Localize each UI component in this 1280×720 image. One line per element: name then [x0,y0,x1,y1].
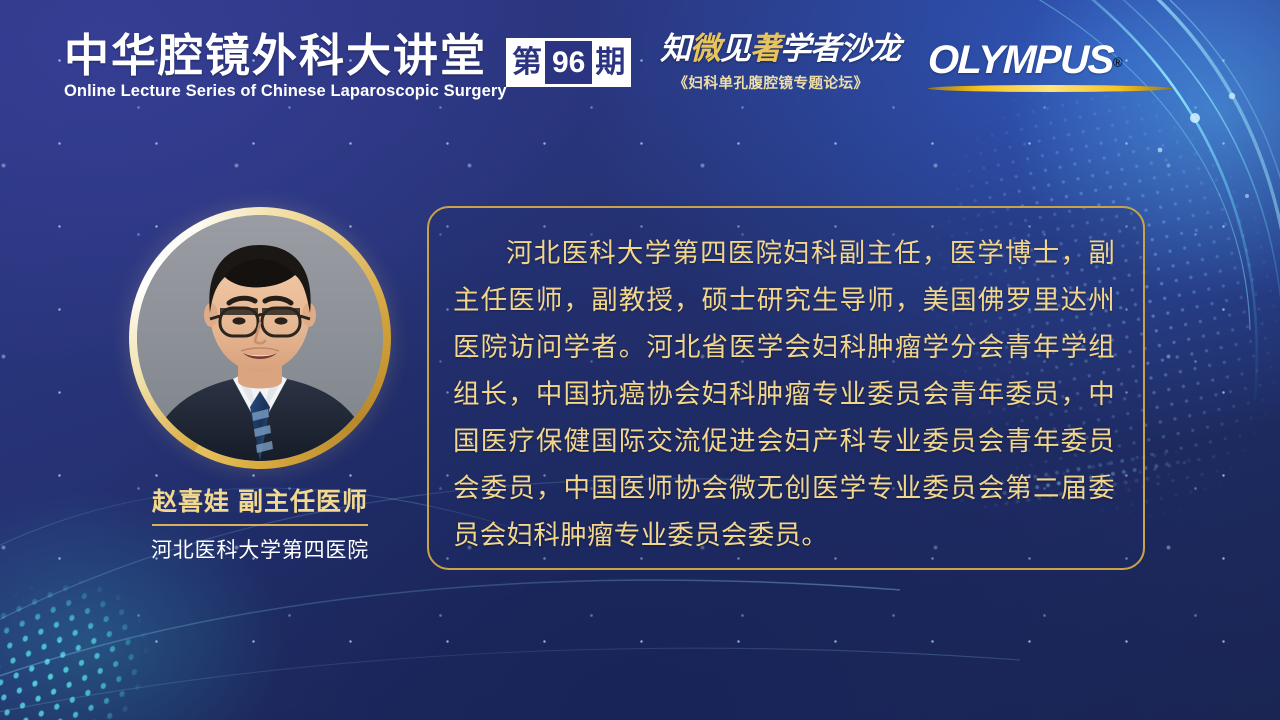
salon-char-5: 学者沙龙 [780,31,900,67]
salon-logo: 知微见著学者沙龙 《妇科单孔腹腔镜专题论坛》 [660,34,882,93]
salon-char-3: 见 [720,31,750,67]
series-title-en: Online Lecture Series of Chinese Laparos… [64,82,507,101]
series-title-cn: 中华腔镜外科大讲堂 [64,33,507,78]
registered-trademark-icon: ® [1113,55,1123,70]
sponsor-logo-olympus: OLYMPUS® [928,40,1172,92]
issue-suffix-label: 期 [592,41,628,84]
speaker-bio-text: 河北医科大学第四医院妇科副主任，医学博士，副主任医师，副教授，硕士研究生导师，美… [429,208,1143,559]
avatar [137,215,383,461]
slide-canvas: 中华腔镜外科大讲堂 Online Lecture Series of Chine… [0,0,1280,720]
slide-header: 中华腔镜外科大讲堂 Online Lecture Series of Chine… [0,0,1280,118]
speaker-portrait-illustration [137,215,383,461]
speaker-bio-panel: 河北医科大学第四医院妇科副主任，医学博士，副主任医师，副教授，硕士研究生导师，美… [427,206,1145,570]
salon-char-4: 著 [750,31,780,67]
salon-char-2: 微 [690,31,720,67]
speaker-portrait-frame [129,207,391,469]
salon-char-1: 知 [660,31,690,67]
salon-subtitle: 《妇科单孔腹腔镜专题论坛》 [660,72,882,93]
speaker-identity: 赵喜娃 副主任医师 河北医科大学第四医院 [60,482,460,564]
speaker-name-title: 赵喜娃 副主任医师 [152,482,368,526]
sponsor-wordmark-row: OLYMPUS® [928,40,1172,80]
salon-calligraphy-title: 知微见著学者沙龙 [660,34,882,65]
speaker-organization: 河北医科大学第四医院 [60,534,460,564]
sponsor-gold-bar [928,85,1172,92]
issue-prefix-label: 第 [509,41,545,84]
sponsor-name: OLYMPUS [927,40,1113,80]
issue-number-value: 96 [545,41,592,84]
issue-number-badge: 第 96 期 [506,38,631,87]
series-branding: 中华腔镜外科大讲堂 Online Lecture Series of Chine… [64,33,507,101]
